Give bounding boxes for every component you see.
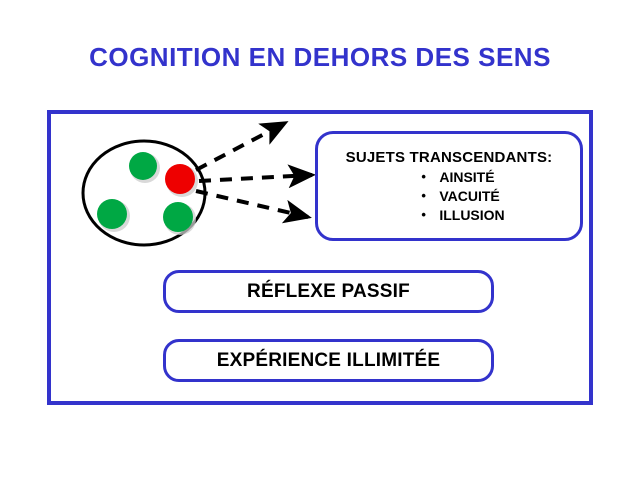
box-experience-illimitee[interactable]: EXPÉRIENCE ILLIMITÉE	[163, 339, 494, 382]
list-item: ILLUSION	[421, 206, 504, 225]
list-item: AINSITÉ	[421, 168, 504, 187]
transcendants-heading: SUJETS TRANSCENDANTS:	[346, 149, 553, 166]
box-reflexe-passif[interactable]: RÉFLEXE PASSIF	[163, 270, 494, 313]
list-item: VACUITÉ	[421, 187, 504, 206]
experience-label: EXPÉRIENCE ILLIMITÉE	[217, 350, 441, 372]
transcendants-list: AINSITÉ VACUITÉ ILLUSION	[393, 168, 504, 225]
page-title: COGNITION EN DEHORS DES SENS	[0, 42, 640, 73]
reflexe-label: RÉFLEXE PASSIF	[247, 281, 410, 303]
slide-canvas: COGNITION EN DEHORS DES SENS SUJETS TRAN…	[0, 0, 640, 480]
box-sujets-transcendants[interactable]: SUJETS TRANSCENDANTS: AINSITÉ VACUITÉ IL…	[315, 131, 583, 241]
